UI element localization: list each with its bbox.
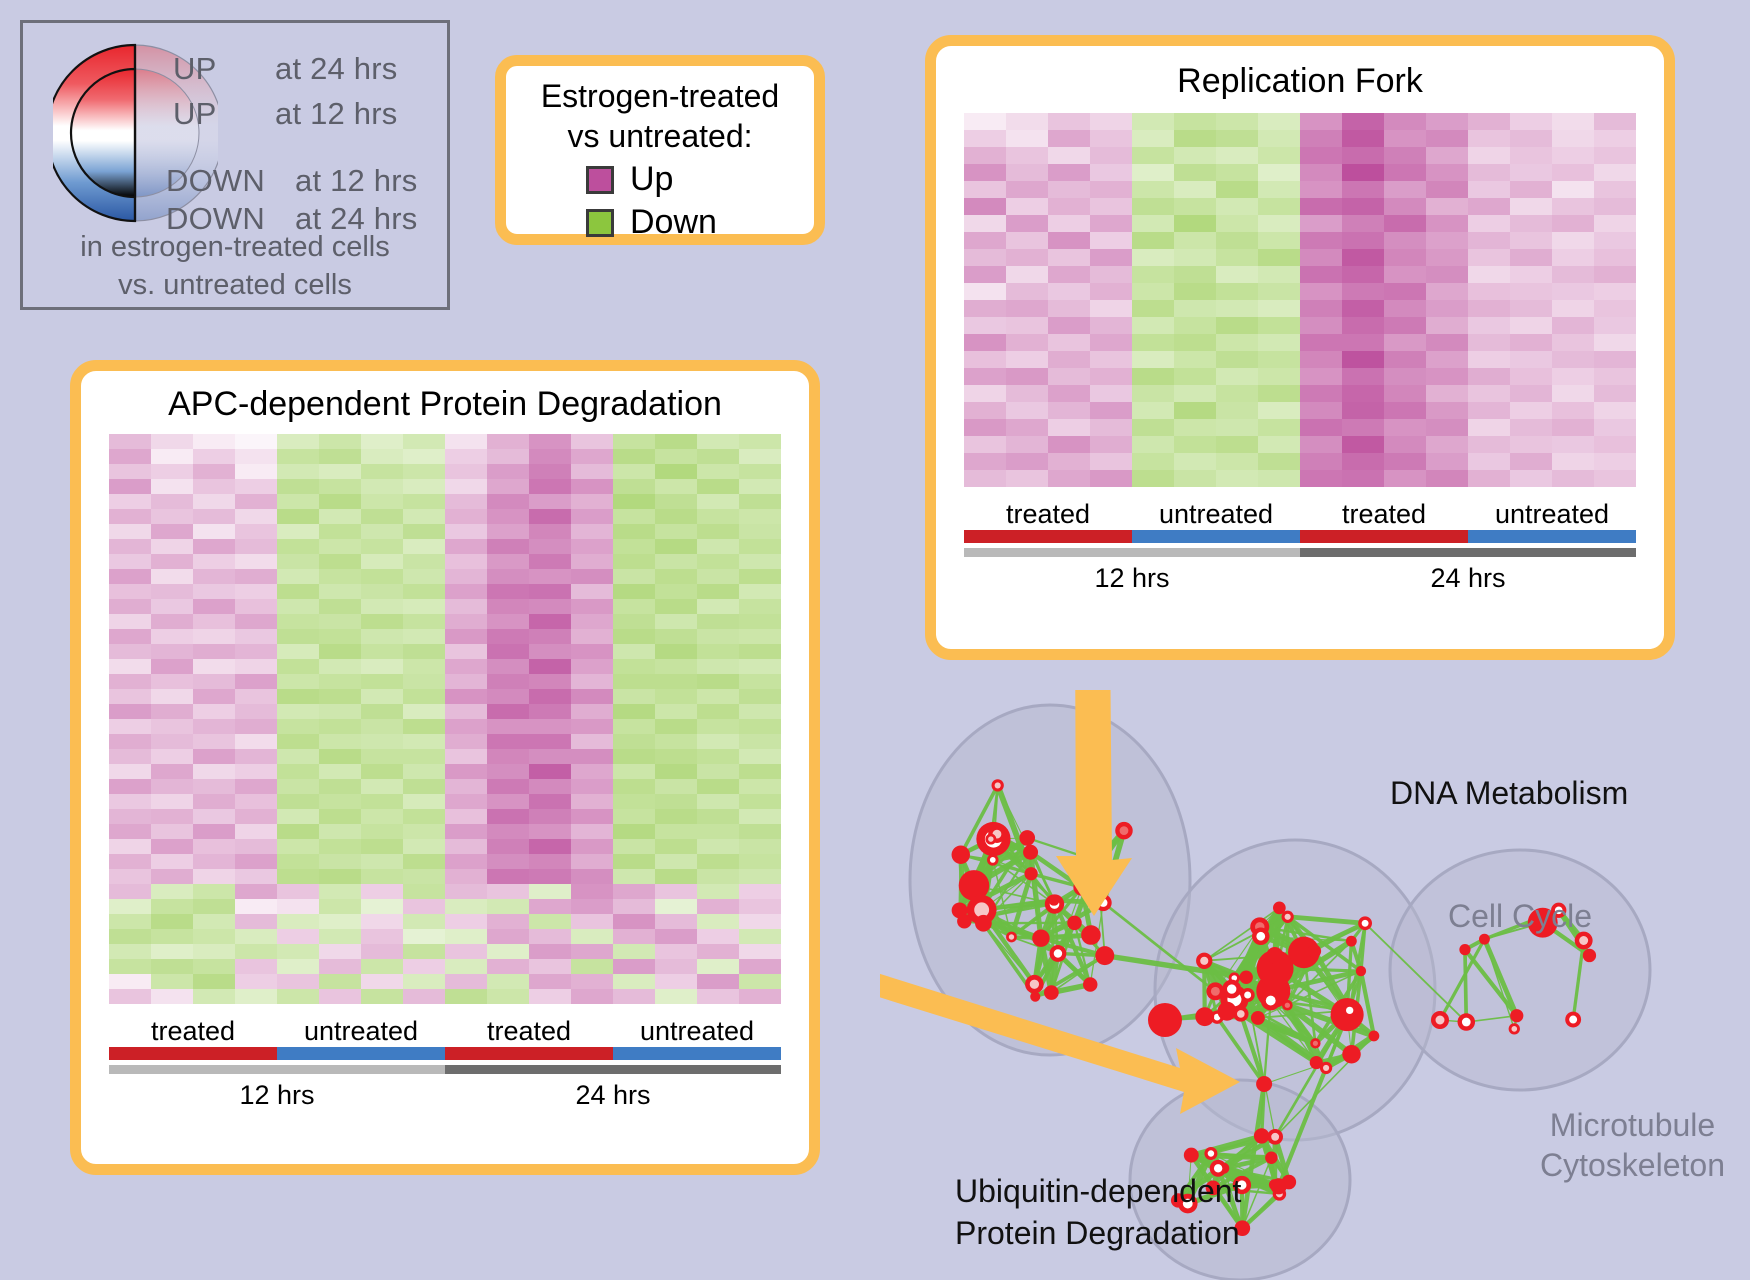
heatmap-cell (529, 779, 571, 794)
heatmap-cell (655, 899, 697, 914)
network-node[interactable] (1261, 991, 1281, 1011)
heatmap-cell (739, 464, 781, 479)
heatmap-cell (1552, 232, 1594, 249)
network-node[interactable] (1368, 1031, 1379, 1042)
network-node[interactable] (1358, 916, 1372, 930)
heatmap-cell (1510, 368, 1552, 385)
heatmap-cell (964, 470, 1006, 487)
heatmap-cell (403, 809, 445, 824)
heatmap-cell (1300, 198, 1342, 215)
heatmap-cell (1384, 317, 1426, 334)
heatmap-cell (403, 434, 445, 449)
heatmap-cell (151, 914, 193, 929)
heatmap-cell (277, 779, 319, 794)
heatmap-cell (1552, 198, 1594, 215)
network-node[interactable] (1217, 1002, 1236, 1021)
heatmap-cell (1174, 113, 1216, 130)
network-node[interactable] (1269, 1179, 1280, 1190)
heatmap-cell (1216, 419, 1258, 436)
cond-label-apc-0: treated (109, 1016, 277, 1047)
network-node[interactable] (1044, 985, 1059, 1000)
heatmap-cell (235, 719, 277, 734)
heatmap-cell (151, 674, 193, 689)
heatmap-cell (1132, 317, 1174, 334)
heatmap-cell (1468, 215, 1510, 232)
heatmap-cell (193, 464, 235, 479)
heatmap-cell (964, 181, 1006, 198)
panel-apc-degradation: APC-dependent Protein Degradation treate… (70, 360, 820, 1175)
heatmap-cell (361, 989, 403, 1004)
heatmap-cell (1342, 198, 1384, 215)
network-node[interactable] (1050, 945, 1067, 962)
heatmap-cell (277, 629, 319, 644)
heatmap-cell (571, 674, 613, 689)
network-node[interactable] (1222, 980, 1241, 999)
heatmap-cell (571, 779, 613, 794)
heatmap-cell (193, 929, 235, 944)
heatmap-cell (529, 539, 571, 554)
heatmap-cell (571, 839, 613, 854)
network-node[interactable] (1342, 1045, 1361, 1064)
heatmap-cell (403, 704, 445, 719)
network-node[interactable] (1479, 934, 1490, 945)
network-node[interactable] (1320, 1062, 1332, 1074)
network-node[interactable] (975, 915, 992, 932)
heatmap-cell (529, 809, 571, 824)
network-node[interactable] (1510, 1009, 1523, 1022)
cluster-label-dna-metabolism: DNA Metabolism (1390, 775, 1628, 812)
heatmap-cell (1090, 232, 1132, 249)
heatmap-cell (445, 629, 487, 644)
heatmap-cell (1384, 130, 1426, 147)
heatmap-cell (697, 614, 739, 629)
heatmap-cell (1510, 283, 1552, 300)
heatmap-cell (1468, 113, 1510, 130)
heatmap-cell (277, 719, 319, 734)
heatmap-cell (319, 884, 361, 899)
heatmap-cell (277, 749, 319, 764)
heatmap-cell (1090, 470, 1132, 487)
heatmap-cell (235, 479, 277, 494)
heatmap-cell (1426, 164, 1468, 181)
heatmap-cell (529, 434, 571, 449)
network-node[interactable] (1282, 911, 1294, 923)
heatmap-cell (151, 824, 193, 839)
heatmap-cell (1006, 402, 1048, 419)
heatmap-cell (109, 944, 151, 959)
heatmap-cell (571, 509, 613, 524)
heatmap-cell (1594, 402, 1636, 419)
heatmap-cell (193, 839, 235, 854)
network-node[interactable] (952, 846, 970, 864)
heatmap-cell (697, 749, 739, 764)
heatmap-cell (1384, 147, 1426, 164)
heatmap-cell (1174, 436, 1216, 453)
heatmap-cell (571, 479, 613, 494)
heatmap-cell (361, 674, 403, 689)
heatmap-cell (403, 944, 445, 959)
heatmap-cell (529, 674, 571, 689)
heatmap-cell (1510, 402, 1552, 419)
heatmap-cell (1090, 130, 1132, 147)
heatmap-cell (697, 539, 739, 554)
time-bar-apc-24 (445, 1065, 781, 1074)
heatmap-cell (319, 749, 361, 764)
network-node[interactable] (1081, 925, 1101, 945)
network-node[interactable] (1459, 944, 1470, 955)
heatmap-cell (445, 659, 487, 674)
heatmap-cell (697, 659, 739, 674)
network-node[interactable] (1265, 1152, 1277, 1164)
heatmap-cell (1090, 164, 1132, 181)
heatmap-cell (739, 929, 781, 944)
heatmap-cell (1090, 436, 1132, 453)
heatmap-cell (1342, 130, 1384, 147)
heatmap-cell (277, 434, 319, 449)
heatmap-cell (1216, 300, 1258, 317)
heatmap-cell (655, 689, 697, 704)
heatmap-cell (487, 764, 529, 779)
network-node[interactable] (1267, 1129, 1283, 1145)
network-node[interactable] (1049, 895, 1060, 906)
network-node[interactable] (1067, 916, 1082, 931)
heatmap-cell (445, 764, 487, 779)
network-node[interactable] (1204, 1147, 1217, 1160)
network-node[interactable] (1458, 1013, 1476, 1031)
heatmap-replication-fork (964, 113, 1636, 487)
heatmap-cell (529, 899, 571, 914)
network-node[interactable] (1006, 932, 1017, 943)
heatmap-cell (1006, 164, 1048, 181)
heatmap-cell (193, 539, 235, 554)
network-node[interactable] (1184, 1148, 1199, 1163)
heatmap-cell (445, 449, 487, 464)
heatmap-cell (487, 719, 529, 734)
heatmap-cell (613, 839, 655, 854)
heatmap-cell (697, 464, 739, 479)
heatmap-cell (1426, 470, 1468, 487)
heatmap-cell (613, 584, 655, 599)
heatmap-cell (613, 434, 655, 449)
heatmap-cell (1048, 130, 1090, 147)
heatmap-cell (1048, 215, 1090, 232)
heatmap-cell (1552, 147, 1594, 164)
heatmap-cell (109, 734, 151, 749)
heatmap-cell (697, 629, 739, 644)
heatmap-cell (235, 449, 277, 464)
heatmap-cell (697, 764, 739, 779)
heatmap-cell (361, 824, 403, 839)
heatmap-cell (487, 434, 529, 449)
condition-labels-apc: treated untreated treated untreated (109, 1016, 781, 1047)
network-node[interactable] (952, 902, 968, 918)
heatmap-cell (1090, 198, 1132, 215)
heatmap-cell (1090, 249, 1132, 266)
heatmap-cell (109, 794, 151, 809)
heatmap-cell (151, 479, 193, 494)
heatmap-cell (445, 749, 487, 764)
heatmap-cell (445, 914, 487, 929)
network-node[interactable] (1023, 845, 1038, 860)
heatmap-cell (1258, 164, 1300, 181)
heatmap-cell (655, 809, 697, 824)
network-node[interactable] (1115, 822, 1132, 839)
heatmap-cell (193, 494, 235, 509)
heatmap-cell (697, 914, 739, 929)
heatmap-cell (361, 719, 403, 734)
heatmap-cell (1048, 419, 1090, 436)
heatmap-cell (1468, 385, 1510, 402)
heatmap-cell (403, 689, 445, 704)
heatmap-cell (1594, 215, 1636, 232)
heatmap-cell (613, 734, 655, 749)
heatmap-cell (1468, 283, 1510, 300)
heatmap-cell (151, 809, 193, 824)
heatmap-cell (361, 899, 403, 914)
cluster-label-cell-cycle: Cell Cycle (1448, 898, 1592, 935)
heatmap-cell (571, 704, 613, 719)
heatmap-cell (571, 494, 613, 509)
heatmap-cell (1468, 232, 1510, 249)
heatmap-cell (487, 884, 529, 899)
cond-bar-rf-untreated-24 (1468, 530, 1636, 543)
heatmap-cell (235, 974, 277, 989)
heatmap-cell (655, 539, 697, 554)
time-bar-apc-12 (109, 1065, 445, 1074)
heatmap-cell (235, 434, 277, 449)
heatmap-cell (277, 944, 319, 959)
network-node[interactable] (1256, 1076, 1272, 1092)
heatmap-cell (1426, 317, 1468, 334)
heatmap-cell (1132, 215, 1174, 232)
network-node[interactable] (985, 834, 996, 845)
up-label: Up (630, 160, 673, 199)
network-node[interactable] (992, 779, 1004, 791)
time-color-bar-apc (109, 1065, 781, 1074)
heatmap-cell (487, 674, 529, 689)
heatmap-cell (571, 869, 613, 884)
network-node[interactable] (1019, 830, 1035, 846)
heatmap-cell (235, 524, 277, 539)
heatmap-cell (571, 629, 613, 644)
heatmap-cell (613, 914, 655, 929)
network-node[interactable] (1251, 1011, 1265, 1025)
heatmap-cell (1006, 181, 1048, 198)
network-node[interactable] (1356, 966, 1366, 976)
heatmap-cell (109, 704, 151, 719)
heatmap-cell (1048, 317, 1090, 334)
network-node[interactable] (1241, 988, 1255, 1002)
heatmap-cell (1384, 164, 1426, 181)
heatmap-cell (403, 824, 445, 839)
heatmap-cell (235, 704, 277, 719)
heatmap-cell (529, 734, 571, 749)
heatmap-cell (193, 989, 235, 1004)
heatmap-cell (235, 809, 277, 824)
heatmap-cell (1510, 215, 1552, 232)
heatmap-cell (739, 779, 781, 794)
heatmap-cell (1006, 368, 1048, 385)
heatmap-cell (571, 884, 613, 899)
heatmap-cell (277, 479, 319, 494)
heatmap-cell (151, 944, 193, 959)
cond-bar-apc-treated-12 (109, 1047, 277, 1060)
network-node[interactable] (1583, 949, 1596, 962)
network-node[interactable] (1196, 953, 1212, 969)
heatmap-cell (109, 479, 151, 494)
heatmap-cell (697, 569, 739, 584)
heatmap-cell (445, 479, 487, 494)
heatmap-cell (613, 944, 655, 959)
heatmap-cell (403, 644, 445, 659)
heatmap-cell (361, 554, 403, 569)
heatmap-cell (193, 674, 235, 689)
heatmap-cell (109, 854, 151, 869)
network-node[interactable] (1206, 982, 1224, 1000)
heatmap-cell (1300, 249, 1342, 266)
heatmap-cell (1594, 351, 1636, 368)
heatmap-cell (1300, 147, 1342, 164)
heatmap-cell (319, 719, 361, 734)
heatmap-cell (1426, 300, 1468, 317)
heatmap-cell (655, 614, 697, 629)
heatmap-cell (1258, 317, 1300, 334)
heatmap-cell (1594, 368, 1636, 385)
heatmap-cell (109, 869, 151, 884)
panel-replication-fork: Replication Fork treated untreated treat… (925, 35, 1675, 660)
heatmap-cell (1594, 198, 1636, 215)
heatmap-cell (571, 854, 613, 869)
heatmap-cell (1048, 232, 1090, 249)
network-node[interactable] (1083, 977, 1097, 991)
network-node[interactable] (987, 854, 999, 866)
heatmap-cell (613, 974, 655, 989)
heatmap-cell (697, 989, 739, 1004)
network-node[interactable] (1095, 946, 1114, 965)
heatmap-cell (1132, 283, 1174, 300)
heatmap-cell (151, 569, 193, 584)
network-node[interactable] (1032, 929, 1049, 946)
network-node[interactable] (1342, 1003, 1357, 1018)
heatmap-cell (1132, 385, 1174, 402)
down-color-swatch (586, 209, 614, 237)
network-node[interactable] (1431, 1011, 1449, 1029)
heatmap-cell (739, 674, 781, 689)
heatmap-cell (1216, 249, 1258, 266)
heatmap-cell (1006, 351, 1048, 368)
heatmap-cell (403, 479, 445, 494)
heatmap-cell (361, 434, 403, 449)
heatmap-cell (1132, 436, 1174, 453)
heatmap-cell (319, 824, 361, 839)
heatmap-cell (193, 899, 235, 914)
heatmap-cell (1300, 317, 1342, 334)
heatmap-cell (697, 869, 739, 884)
network-node[interactable] (1308, 944, 1321, 957)
heatmap-cell (487, 869, 529, 884)
heatmap-cell (1006, 300, 1048, 317)
network-node[interactable] (1282, 1000, 1293, 1011)
heatmap-cell (361, 854, 403, 869)
network-node[interactable] (1509, 1023, 1520, 1034)
heatmap-cell (1006, 317, 1048, 334)
heatmap-cell (1510, 147, 1552, 164)
wheel-legend-footer: in estrogen-treated cells vs. untreated … (23, 228, 447, 304)
heatmap-cell (1174, 334, 1216, 351)
heatmap-cell (109, 824, 151, 839)
time-label-apc-12: 12 hrs (109, 1080, 445, 1111)
heatmap-cell (1510, 470, 1552, 487)
time-color-bar-replication-fork (964, 548, 1636, 557)
network-node[interactable] (1252, 928, 1270, 946)
heatmap-cell (235, 614, 277, 629)
heatmap-cell (1342, 470, 1384, 487)
heatmap-cell (1090, 317, 1132, 334)
heatmap-cell (1552, 453, 1594, 470)
heatmap-cell (1510, 198, 1552, 215)
heatmap-cell (1258, 113, 1300, 130)
network-node[interactable] (1310, 1038, 1320, 1048)
network-node[interactable] (1148, 1003, 1182, 1037)
updown-header-line-1: Estrogen-treated (506, 76, 814, 116)
heatmap-cell (964, 266, 1006, 283)
network-node[interactable] (1266, 947, 1283, 964)
heatmap-cell (1384, 368, 1426, 385)
heatmap-cell (655, 674, 697, 689)
heatmap-cell (964, 453, 1006, 470)
heatmap-cell (487, 779, 529, 794)
heatmap-cell (361, 869, 403, 884)
network-node[interactable] (1030, 992, 1040, 1002)
network-node[interactable] (1346, 936, 1357, 947)
network-node[interactable] (1239, 971, 1252, 984)
heatmap-cell (1216, 266, 1258, 283)
heatmap-cell (613, 854, 655, 869)
heatmap-cell (1384, 215, 1426, 232)
network-node[interactable] (1024, 867, 1037, 880)
heatmap-cell (739, 749, 781, 764)
heatmap-cell (655, 839, 697, 854)
heatmap-cell (964, 215, 1006, 232)
heatmap-cell (1216, 147, 1258, 164)
heatmap-cell (697, 689, 739, 704)
heatmap-cell (1216, 283, 1258, 300)
heatmap-cell (739, 989, 781, 1004)
condition-color-bar-apc (109, 1047, 781, 1060)
heatmap-cell (235, 899, 277, 914)
heatmap-cell (445, 809, 487, 824)
network-node[interactable] (1254, 1128, 1269, 1143)
heatmap-cell (1468, 266, 1510, 283)
heatmap-cell (1258, 266, 1300, 283)
heatmap-cell (1552, 215, 1594, 232)
heatmap-cell (319, 989, 361, 1004)
heatmap-cell (1552, 300, 1594, 317)
heatmap-cell (655, 959, 697, 974)
heatmap-cell (571, 644, 613, 659)
heatmap-cell (487, 824, 529, 839)
heatmap-cell (1300, 453, 1342, 470)
heatmap-cell (739, 719, 781, 734)
heatmap-cell (151, 629, 193, 644)
network-node[interactable] (1025, 975, 1044, 994)
heatmap-cell (193, 719, 235, 734)
heatmap-cell (1174, 266, 1216, 283)
network-node[interactable] (1195, 1007, 1214, 1026)
heatmap-cell (964, 419, 1006, 436)
cond-label-rf-2: treated (1300, 499, 1468, 530)
network-node[interactable] (1565, 1012, 1581, 1028)
